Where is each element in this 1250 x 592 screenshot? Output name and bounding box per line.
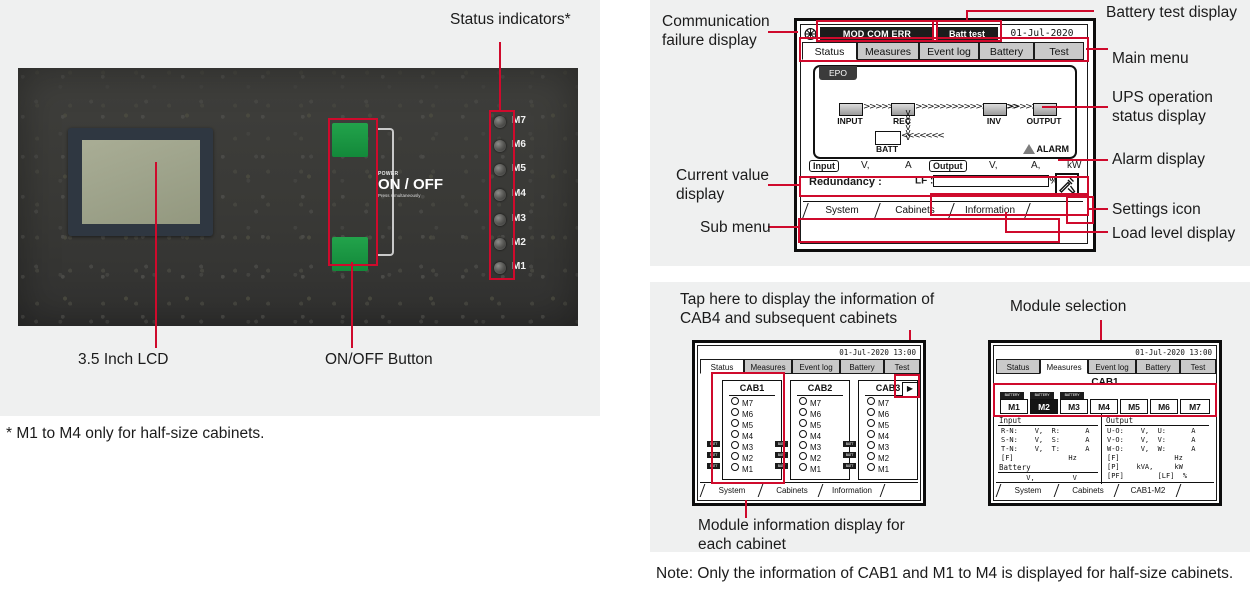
module-label: M3	[878, 443, 889, 452]
output-row: [PF] [LF] %	[1107, 472, 1187, 480]
warning-triangle-icon	[1023, 144, 1035, 154]
input-section-title: Input	[999, 416, 1022, 425]
onoff-word: ON / OFF	[378, 177, 448, 193]
output-row: [P] kVA, kW	[1107, 463, 1183, 471]
input-row: S-N: V, S: A	[1001, 436, 1090, 444]
output-amps: A,	[1031, 160, 1040, 171]
callout-onoff-button: ON/OFF Button	[325, 350, 433, 369]
power-onoff-label: POWER ON / OFF Press simultaneously	[378, 171, 448, 199]
module-status-icon	[867, 463, 875, 471]
highlight-settings-icon	[1066, 196, 1094, 224]
output-kw: kW	[1067, 160, 1081, 171]
lcd-screen-3.5inch[interactable]	[82, 140, 200, 224]
module-label: M3	[810, 443, 821, 452]
measures-lcd-screen[interactable]: 01-Jul-2020 13:00 Status Measures Event …	[988, 340, 1222, 506]
callout-module-info: Module information display foreach cabin…	[698, 516, 905, 554]
meas-tab-event-log[interactable]: Event log	[1088, 359, 1136, 374]
module-label: M1	[878, 465, 889, 474]
module-label: M1	[810, 465, 821, 474]
leader-settings-icon	[1088, 208, 1108, 210]
leader-load-level-h	[1005, 231, 1108, 233]
callout-ups-operation: UPS operationstatus display	[1112, 88, 1213, 126]
module-status-icon	[799, 397, 807, 405]
node-label-input: INPUT	[827, 116, 873, 126]
module-status-icon	[799, 419, 807, 427]
alarm-label: ALARM	[1037, 144, 1070, 154]
node-batt-icon	[875, 131, 901, 145]
output-row: [F] Hz	[1107, 454, 1183, 462]
leader-main-menu	[1086, 48, 1108, 50]
note-half-size-cabinets: Note: Only the information of CAB1 and M…	[656, 565, 1233, 583]
cab-subtab-cabinets[interactable]: Cabinets	[766, 484, 818, 497]
meas-subtab-system[interactable]: System	[1004, 484, 1052, 497]
flow-batt-arrows: <<<<<<<	[901, 132, 943, 140]
callout-box-onoff-button	[328, 118, 378, 266]
module-label: M2	[810, 454, 821, 463]
output-tag: Output	[929, 160, 967, 172]
highlight-cab1-modules	[711, 372, 785, 484]
cab-tab-test[interactable]: Test	[884, 359, 920, 374]
node-label-inv: INV	[973, 116, 1015, 126]
callout-alarm: Alarm display	[1112, 150, 1205, 169]
callout-load-level: Load level display	[1112, 224, 1235, 243]
meas-sub-menu: System Cabinets CAB1-M2	[996, 482, 1214, 499]
output-section-title: Output	[1106, 416, 1133, 425]
input-row: T-N: V, T: A	[1001, 445, 1090, 453]
leader-current-value	[768, 184, 800, 186]
highlight-module-selection	[993, 383, 1217, 417]
leader-sub-menu	[768, 226, 800, 228]
ups-operation-status-display: EPO INPUT >>>>>>> REC >>>>>>>>>>>>>>>>> …	[813, 65, 1077, 159]
module-label: M6	[810, 410, 821, 419]
node-label-rec: REC	[881, 116, 923, 126]
module-label: M7	[810, 399, 821, 408]
input-amps: A	[905, 160, 912, 171]
meas-tab-test[interactable]: Test	[1180, 359, 1216, 374]
cabinet-title: CAB2	[791, 383, 849, 393]
cab-tab-event-log[interactable]: Event log	[792, 359, 840, 374]
input-volts: V,	[861, 160, 870, 171]
output-row: U-O: V, U: A	[1107, 427, 1196, 435]
callout-leader-onoff	[351, 262, 353, 348]
callout-module-selection: Module selection	[1010, 297, 1126, 316]
batt-chip: BATT	[843, 463, 856, 469]
module-label: M2	[878, 454, 889, 463]
leader-load-level-v	[1005, 212, 1007, 232]
battery-section-title: Battery	[999, 463, 1031, 472]
output-row: V-O: V, V: A	[1107, 436, 1196, 444]
callout-lcd: 3.5 Inch LCD	[78, 350, 168, 369]
meas-tab-battery[interactable]: Battery	[1136, 359, 1180, 374]
input-row: R-N: V, R: A	[1001, 427, 1090, 435]
module-label: M6	[878, 410, 889, 419]
node-input-icon	[839, 103, 863, 116]
leader-alarm	[1058, 159, 1108, 161]
output-row: W-O: V, W: A	[1107, 445, 1196, 453]
module-status-icon	[867, 441, 875, 449]
node-output-icon	[1033, 103, 1057, 116]
node-label-output: OUTPUT	[1021, 116, 1067, 126]
input-tag: Input	[809, 160, 839, 172]
module-label: M7	[878, 399, 889, 408]
highlight-next-arrow	[894, 374, 920, 398]
callout-settings-icon: Settings icon	[1112, 200, 1201, 219]
press-simultaneously-note: Press simultaneously	[378, 193, 448, 199]
highlight-main-menu	[799, 37, 1089, 62]
module-label: M5	[878, 421, 889, 430]
module-label: M5	[810, 421, 821, 430]
module-label: M4	[878, 432, 889, 441]
module-label: M4	[810, 432, 821, 441]
cab-tab-battery[interactable]: Battery	[840, 359, 884, 374]
leader-battery-test-h	[966, 10, 1094, 12]
callout-tap-here: Tap here to display the information ofCA…	[680, 290, 934, 328]
subtab-system[interactable]: System	[811, 203, 873, 218]
module-status-icon	[799, 452, 807, 460]
module-status-icon	[867, 452, 875, 460]
module-status-icon	[867, 430, 875, 438]
meas-subtab-cabinets[interactable]: Cabinets	[1062, 484, 1114, 497]
callout-sub-menu: Sub menu	[700, 218, 771, 237]
module-status-icon	[799, 430, 807, 438]
input-row: [F] Hz	[1001, 454, 1077, 462]
module-status-icon	[799, 441, 807, 449]
meas-tab-measures[interactable]: Measures	[1040, 359, 1088, 374]
callout-leader-status-indicators	[499, 42, 501, 110]
node-label-batt: BATT	[867, 144, 907, 154]
epo-badge[interactable]: EPO	[819, 66, 857, 80]
current-value-display: Input V, A Output V, A, kW	[809, 159, 1079, 174]
callout-communication-failure: Communicationfailure display	[662, 12, 770, 50]
callout-main-menu: Main menu	[1112, 49, 1189, 68]
footnote-half-size: * M1 to M4 only for half-size cabinets.	[6, 424, 264, 443]
cabinet-box-cab2[interactable]: CAB2 M7 M6 M5 M4 M3 M2 M1	[790, 380, 850, 480]
callout-current-value: Current valuedisplay	[676, 166, 769, 204]
cab-sub-menu: System Cabinets Information	[700, 482, 918, 499]
batt-chip: BATT	[843, 452, 856, 458]
meas-subtab-cab1-m2[interactable]: CAB1-M2	[1120, 484, 1176, 497]
callout-battery-test: Battery test display	[1106, 3, 1237, 22]
callout-box-status-indicators	[489, 110, 515, 280]
batt-chip: BATT	[843, 441, 856, 447]
module-status-icon	[867, 408, 875, 416]
callout-leader-lcd	[155, 162, 157, 348]
cab-subtab-system[interactable]: System	[708, 484, 756, 497]
module-status-icon	[867, 397, 875, 405]
leader-ups-operation	[1042, 106, 1108, 108]
cabinets-datetime: 01-Jul-2020 13:00	[839, 348, 916, 357]
callout-status-indicators: Status indicators*	[450, 10, 571, 29]
module-status-icon	[799, 463, 807, 471]
alarm-display: ALARM	[1023, 142, 1070, 154]
measures-lcd-inner: 01-Jul-2020 13:00 Status Measures Event …	[993, 345, 1217, 501]
output-volts: V,	[989, 160, 998, 171]
module-status-icon	[799, 408, 807, 416]
battery-row: V, V	[1001, 474, 1077, 482]
node-inv-icon	[983, 103, 1007, 116]
module-status-icon	[867, 419, 875, 427]
measures-datetime: 01-Jul-2020 13:00	[1135, 348, 1212, 357]
meas-tab-status[interactable]: Status	[996, 359, 1040, 374]
cab-subtab-information[interactable]: Information	[824, 484, 880, 497]
leader-comm-failure	[768, 31, 798, 33]
